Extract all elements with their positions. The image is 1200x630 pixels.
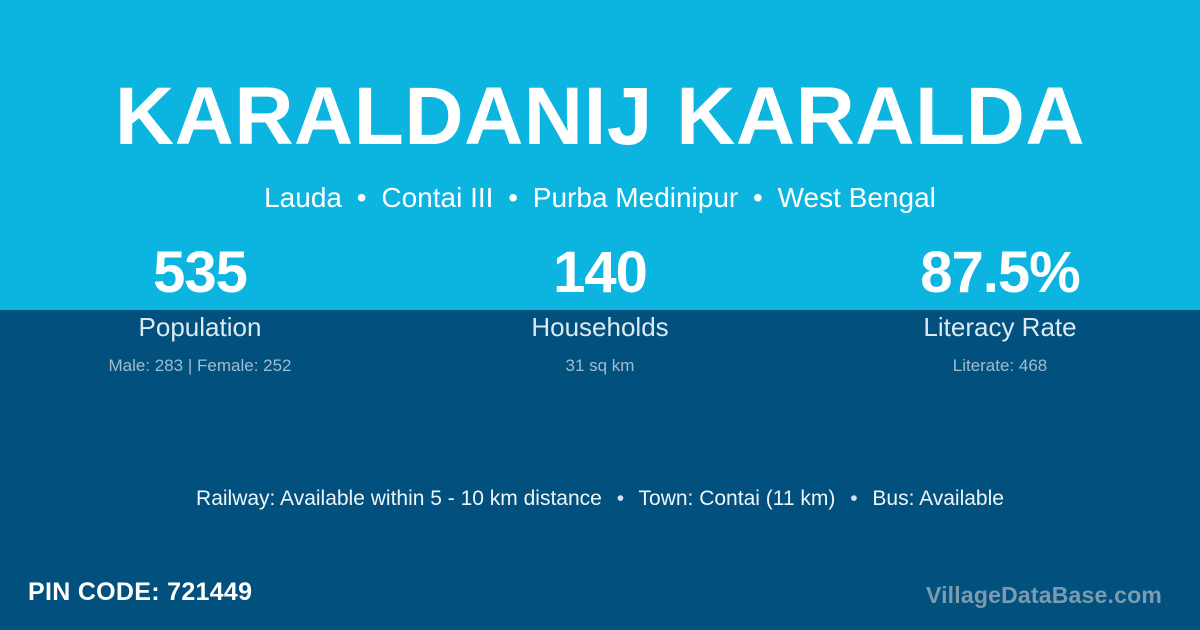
stat-population: 535 Population Male: 283 | Female: 252 [0, 240, 400, 378]
breadcrumb-separator: • [350, 182, 374, 213]
amenities-line: Railway: Available within 5 - 10 km dist… [0, 484, 1200, 514]
stats-row: 535 Population Male: 283 | Female: 252 1… [0, 240, 1200, 378]
breadcrumb-separator: • [746, 182, 770, 213]
amenity-railway: Railway: Available within 5 - 10 km dist… [196, 487, 602, 510]
page-title: KARALDANIJ KARALDA [0, 76, 1200, 158]
amenity-separator: • [608, 487, 633, 510]
amenity-town: Town: Contai (11 km) [639, 487, 836, 510]
stat-sub-detail: Literate: 468 [800, 354, 1200, 378]
stat-label: Households [400, 310, 800, 344]
breadcrumb-item-state: West Bengal [778, 182, 936, 213]
stat-label: Literacy Rate [800, 310, 1200, 344]
stat-value: 140 [400, 240, 800, 306]
stat-sub-detail: 31 sq km [400, 354, 800, 378]
amenity-bus: Bus: Available [872, 487, 1004, 510]
stat-label: Population [0, 310, 400, 344]
breadcrumb: Lauda • Contai III • Purba Medinipur • W… [0, 181, 1200, 215]
stat-sub-detail: Male: 283 | Female: 252 [0, 354, 400, 378]
breadcrumb-item-block: Contai III [381, 182, 493, 213]
site-watermark: VillageDataBase.com [926, 580, 1162, 610]
stat-literacy-rate: 87.5% Literacy Rate Literate: 468 [800, 240, 1200, 378]
breadcrumb-item-district: Purba Medinipur [533, 182, 738, 213]
pin-code-label: PIN CODE: 721449 [28, 576, 252, 608]
amenity-separator: • [841, 487, 866, 510]
stat-value: 535 [0, 240, 400, 306]
breadcrumb-item-village: Lauda [264, 182, 342, 213]
village-info-card: KARALDANIJ KARALDA Lauda • Contai III • … [0, 0, 1200, 630]
breadcrumb-separator: • [501, 182, 525, 213]
stat-households: 140 Households 31 sq km [400, 240, 800, 378]
stat-value: 87.5% [800, 240, 1200, 306]
